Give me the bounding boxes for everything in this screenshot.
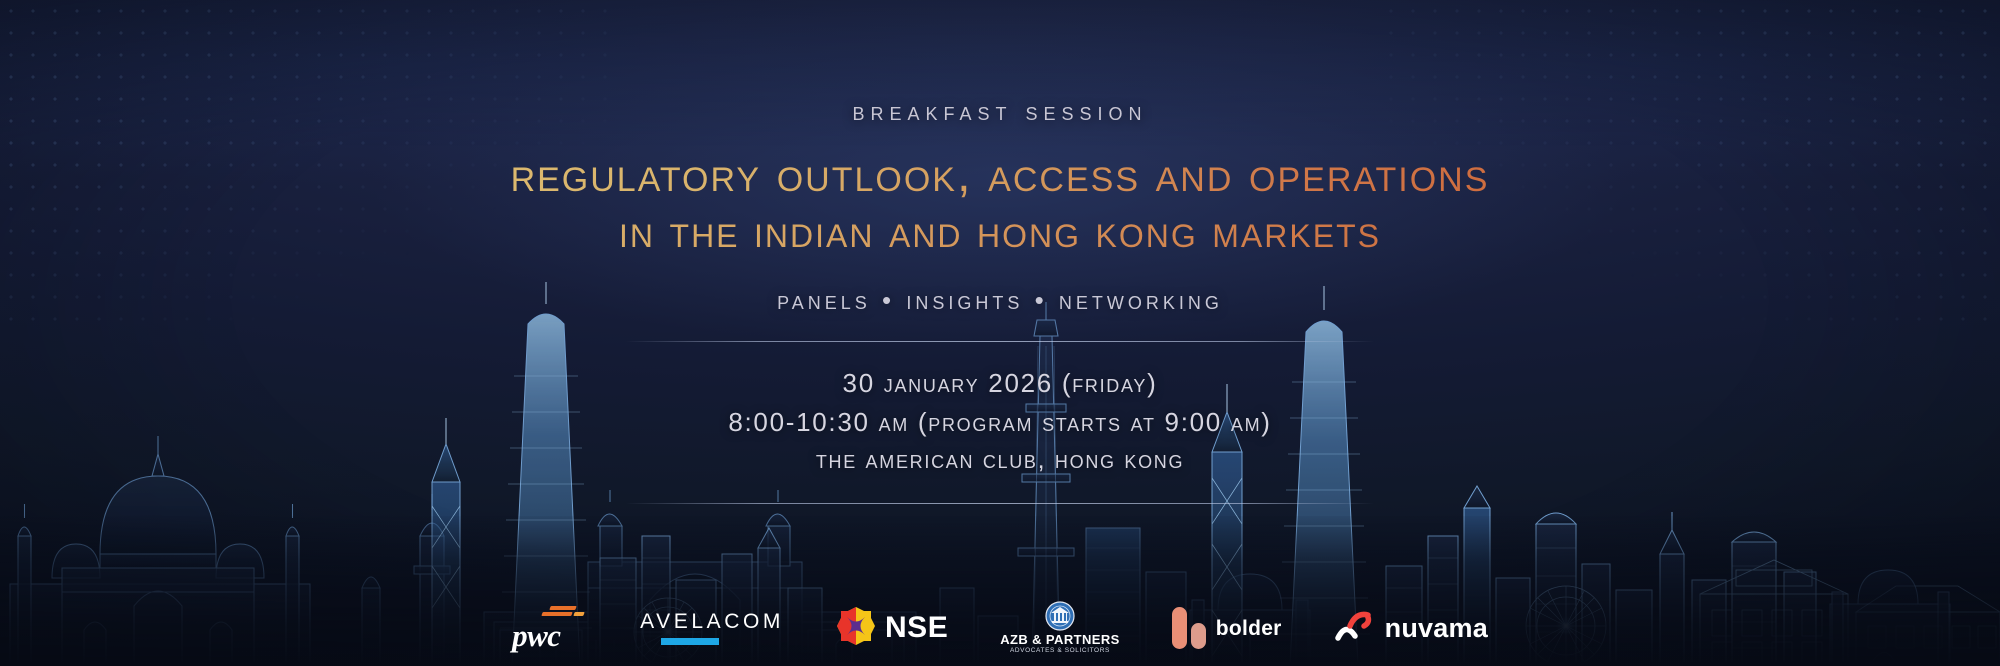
event-time: 8:00-10:30 AM (Program starts at 9:00 AM… — [728, 407, 1271, 438]
nse-wordmark: NSE — [885, 613, 948, 643]
sponsor-logo-nuvama[interactable]: nuvama — [1334, 606, 1488, 650]
avelacom-wordmark: AVELACOM — [640, 611, 784, 632]
divider-top — [625, 341, 1375, 342]
pwc-wordmark: pwc — [512, 620, 560, 651]
event-banner: Breakfast Session Regulatory Outlook, Ac… — [0, 0, 2000, 666]
page-title: Regulatory Outlook, Access and Operation… — [511, 146, 1490, 259]
nuvama-mark-icon — [1334, 610, 1376, 647]
azb-tagline: ADVOCATES & SOLICITORS — [1010, 648, 1110, 655]
nse-mark-icon — [836, 606, 876, 651]
azb-emblem-icon — [1045, 601, 1075, 631]
headline-line-1: Regulatory Outlook, Access and Operation… — [511, 146, 1490, 205]
eyebrow-label: Breakfast Session — [852, 98, 1147, 127]
banner-content: Breakfast Session Regulatory Outlook, Ac… — [0, 0, 2000, 666]
sponsor-logo-bar: pwc AVELACOM NSE — [0, 590, 2000, 666]
divider-bottom — [625, 503, 1375, 504]
sponsor-logo-bolder[interactable]: bolder — [1172, 606, 1282, 650]
sponsor-logo-avelacom[interactable]: AVELACOM — [640, 606, 784, 650]
event-details: 30 January 2026 (Friday) 8:00-10:30 AM (… — [728, 368, 1271, 475]
event-format-label: Panels • Insights • Networking — [777, 285, 1223, 316]
headline-line-2: in the Indian and Hong Kong Markets — [511, 205, 1490, 259]
pwc-stripes-icon — [536, 606, 588, 619]
sponsor-logo-pwc[interactable]: pwc — [512, 606, 588, 650]
event-venue: The American Club, Hong Kong — [728, 446, 1271, 475]
azb-wordmark: AZB & PARTNERS — [1000, 633, 1119, 646]
event-date: 30 January 2026 (Friday) — [728, 368, 1271, 399]
sponsor-logo-azb[interactable]: AZB & PARTNERS ADVOCATES & SOLICITORS — [1000, 606, 1119, 650]
bolder-mark-icon — [1172, 607, 1206, 649]
sponsor-logo-nse[interactable]: NSE — [836, 606, 948, 650]
nuvama-wordmark: nuvama — [1385, 615, 1488, 642]
avelacom-underline-icon — [661, 638, 719, 645]
bolder-wordmark: bolder — [1216, 618, 1282, 639]
